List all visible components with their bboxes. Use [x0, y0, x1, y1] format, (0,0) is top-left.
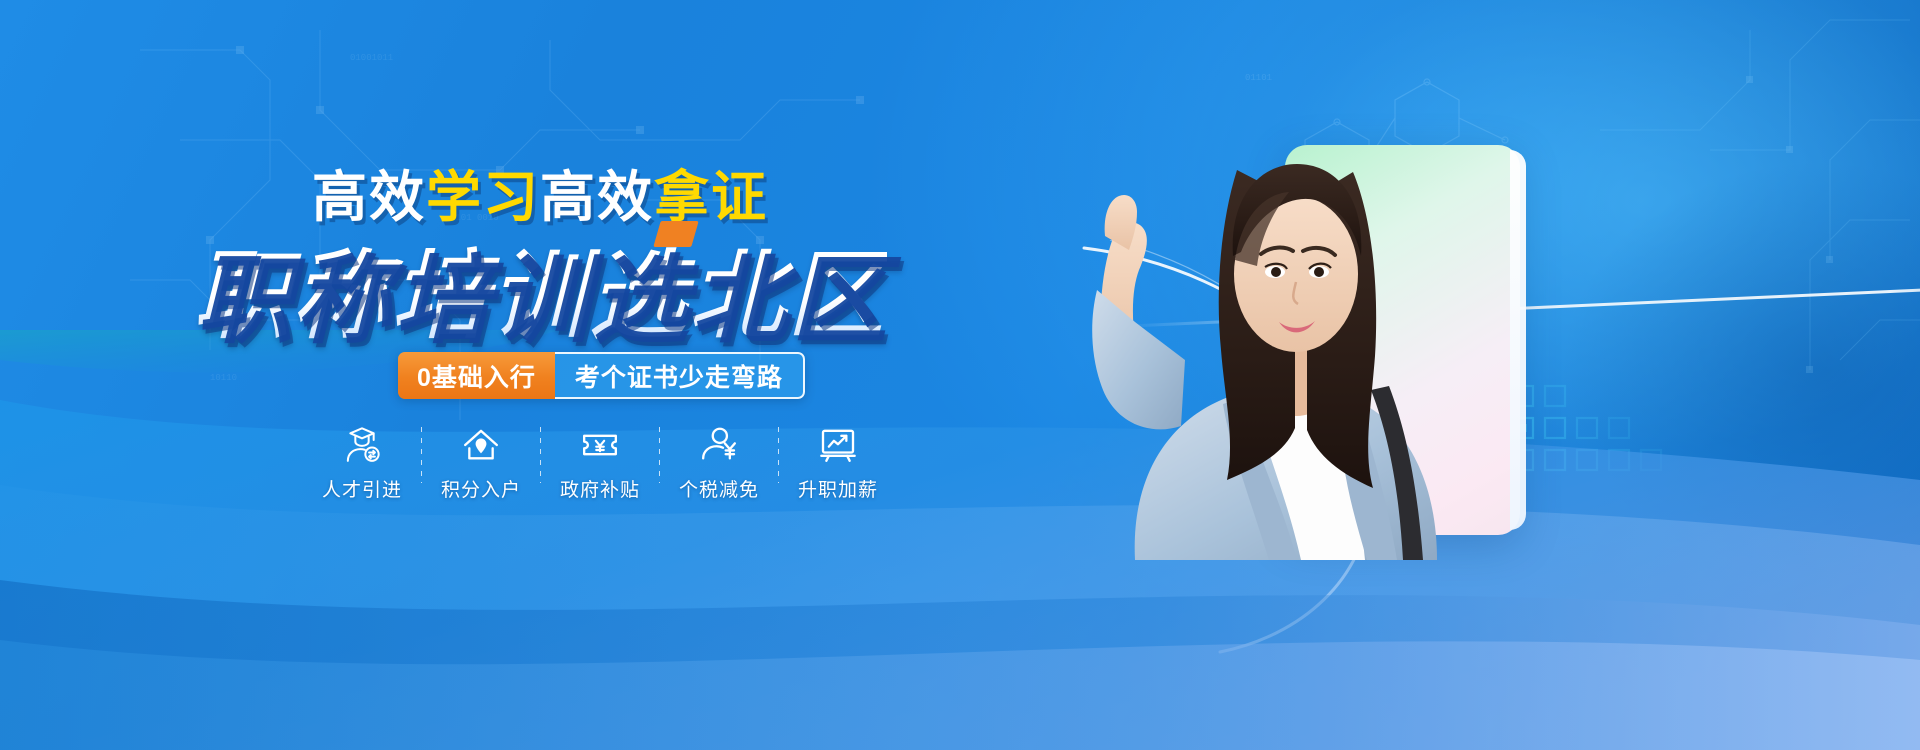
promo-banner: 01001011 1101 0010 10110 011011001100110: [0, 0, 1920, 750]
subtitle-badge: 0基础入行 考个证书少走弯路: [398, 352, 805, 399]
feature-label-tax: 个税减免: [679, 475, 759, 502]
orange-accent-mark: [653, 221, 698, 247]
graduate-person-icon: [342, 425, 382, 465]
ticket-yuan-icon: [580, 425, 620, 465]
feature-item-tax[interactable]: 个税减免: [660, 425, 778, 502]
house-pin-icon: [461, 425, 501, 465]
text-content: 高效学习高效拿证 职称培训选北区 0基础入行 考个证书少走弯路: [0, 0, 1080, 750]
feature-label-hukou: 积分入户: [441, 475, 521, 502]
feature-item-hukou[interactable]: 积分入户: [422, 425, 540, 502]
badge-left-label: 0基础入行: [398, 352, 555, 399]
feature-label-subsidy: 政府补贴: [560, 475, 640, 502]
person-yuan-icon: [699, 425, 739, 465]
chart-board-icon: [818, 425, 858, 465]
feature-item-promotion[interactable]: 升职加薪: [779, 425, 897, 502]
feature-item-talent[interactable]: 人才引进: [303, 425, 421, 502]
feature-list: 人才引进 积分入户: [250, 425, 950, 502]
main-title: 职称培训选北区: [0, 218, 1080, 357]
feature-label-talent: 人才引进: [322, 475, 402, 502]
badge-right-label: 考个证书少走弯路: [555, 352, 805, 399]
feature-item-subsidy[interactable]: 政府补贴: [541, 425, 659, 502]
feature-label-promotion: 升职加薪: [798, 475, 878, 502]
main-title-text: 职称培训选北区: [194, 218, 887, 357]
